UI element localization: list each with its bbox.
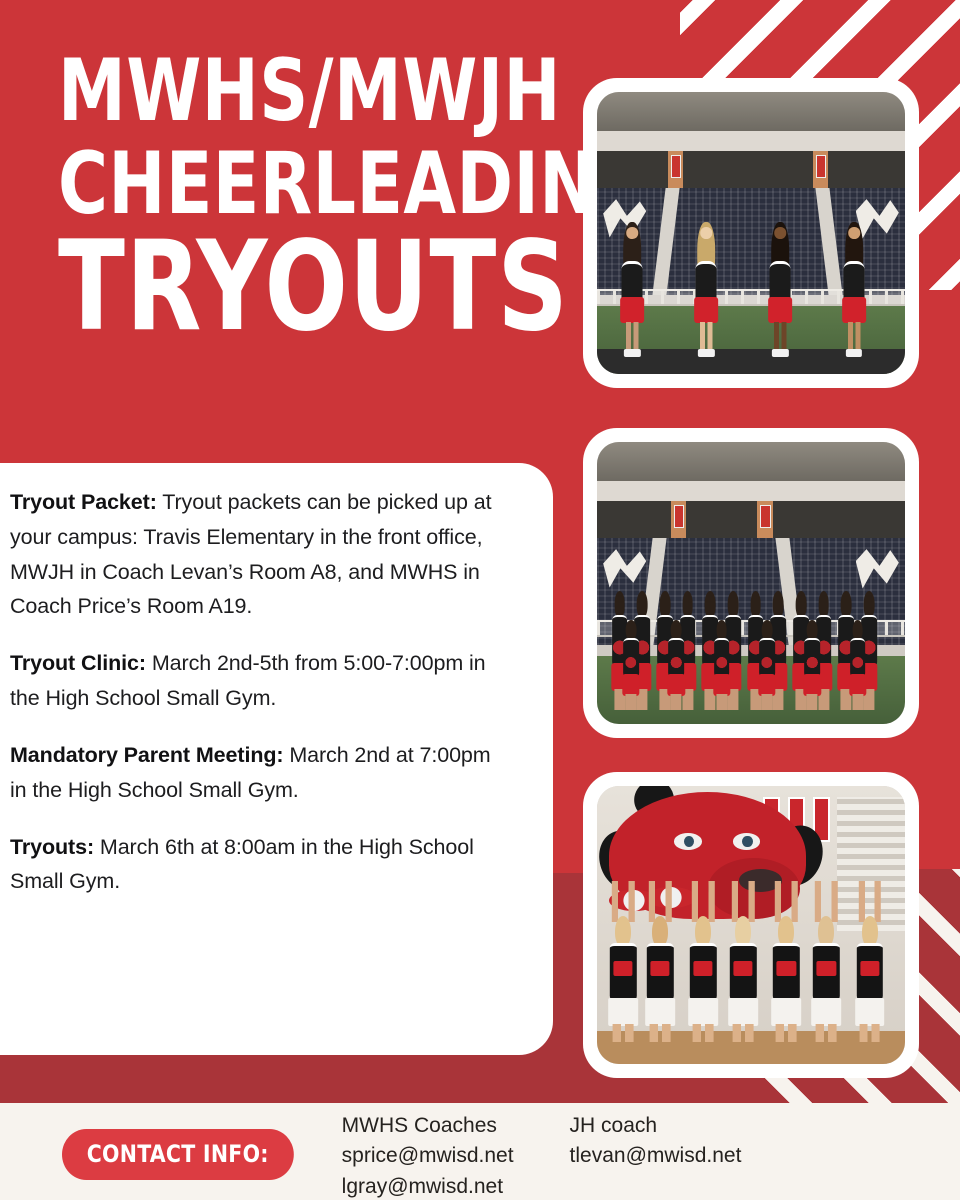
bullet-text-1: Tryout Packet: Tryout packets can be pic… xyxy=(10,485,509,624)
photo-four-cheerleaders-stadium xyxy=(583,78,919,388)
footer-contact-bar: CONTACT INFO: MWHS Coaches sprice@mwisd.… xyxy=(0,1103,960,1200)
contact-email-tlevan[interactable]: tlevan@mwisd.net xyxy=(570,1141,742,1171)
bullet-text-4: Tryouts: March 6th at 8:00am in the High… xyxy=(10,830,509,900)
photo-3-image xyxy=(597,786,905,1064)
page-title: MWHS/MWJH CHEERLEADING TRYOUTS xyxy=(58,52,558,344)
bullet-label-1: Tryout Packet: xyxy=(10,490,157,514)
cheerleaders-group xyxy=(597,227,905,357)
list-item: Tryout Packet: Tryout packets can be pic… xyxy=(10,485,509,624)
squad-rows xyxy=(609,591,892,709)
photo-cheer-squad-group xyxy=(583,428,919,738)
title-line-2: CHEERLEADING xyxy=(58,145,498,224)
photo-pep-rally-mascot xyxy=(583,772,919,1078)
contact-heading-jh: JH coach xyxy=(570,1111,742,1141)
stadium-scene xyxy=(597,92,905,374)
cheer-tryouts-poster: MWHS/MWJH CHEERLEADING TRYOUTS xyxy=(0,0,960,1200)
contact-email-lgray[interactable]: lgray@mwisd.net xyxy=(342,1172,514,1200)
photo-1-image xyxy=(597,92,905,374)
contact-column-mwhs: MWHS Coaches sprice@mwisd.net lgray@mwis… xyxy=(342,1111,514,1200)
rally-cheerleaders xyxy=(597,881,905,1042)
list-item: Mandatory Parent Meeting: March 2nd at 7… xyxy=(10,738,509,808)
contact-columns: MWHS Coaches sprice@mwisd.net lgray@mwis… xyxy=(342,1111,742,1200)
photo-2-image xyxy=(597,442,905,724)
contact-heading-mwhs: MWHS Coaches xyxy=(342,1111,514,1141)
bullet-label-2: Tryout Clinic: xyxy=(10,651,146,675)
title-line-1: MWHS/MWJH xyxy=(58,52,498,131)
contact-column-jh: JH coach tlevan@mwisd.net xyxy=(570,1111,742,1200)
contact-email-sprice[interactable]: sprice@mwisd.net xyxy=(342,1141,514,1171)
bullet-text-2: Tryout Clinic: March 2nd-5th from 5:00-7… xyxy=(10,646,509,716)
bullet-label-4: Tryouts: xyxy=(10,835,94,859)
bullet-text-3: Mandatory Parent Meeting: March 2nd at 7… xyxy=(10,738,509,808)
tryout-info-card: Tryout Packet: Tryout packets can be pic… xyxy=(0,463,553,1055)
pep-rally-scene xyxy=(597,786,905,1064)
contact-info-badge: CONTACT INFO: xyxy=(62,1129,293,1180)
title-line-3: TRYOUTS xyxy=(58,230,498,344)
list-item: Tryout Clinic: March 2nd-5th from 5:00-7… xyxy=(10,646,509,716)
stadium-scene-group xyxy=(597,442,905,724)
list-item: Tryouts: March 6th at 8:00am in the High… xyxy=(10,830,509,900)
bullet-label-3: Mandatory Parent Meeting: xyxy=(10,743,283,767)
